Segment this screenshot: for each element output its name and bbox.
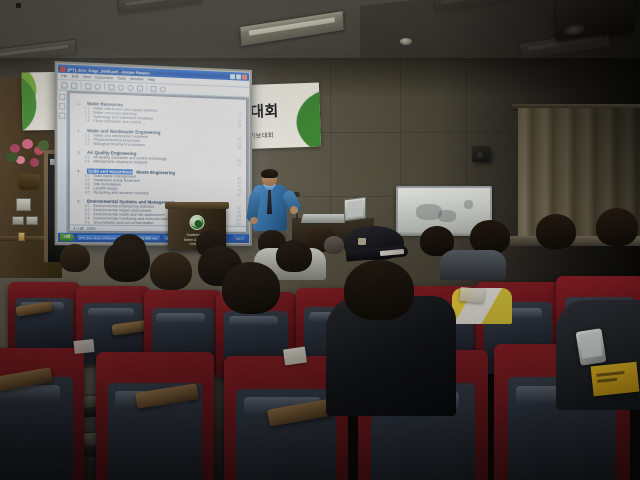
toc-item-page: 80: [238, 192, 242, 196]
menu-view[interactable]: View: [83, 75, 91, 80]
menu-tools[interactable]: Tools: [117, 76, 126, 80]
auditorium-seat-front: [96, 352, 214, 480]
audience-head-foreground: [276, 240, 312, 272]
whiteboard-marking: [464, 200, 473, 209]
flower: [30, 158, 39, 167]
system-tray-clock[interactable]: 14:27: [233, 235, 247, 242]
maximize-button[interactable]: [236, 74, 241, 79]
zoom-level: 100%: [87, 226, 96, 230]
toolbar-separator: [104, 83, 105, 90]
toc-item-text: Atmospheric dispersion analysis: [93, 159, 147, 164]
handout-paper[interactable]: [283, 347, 307, 366]
snapshot-icon[interactable]: [108, 84, 114, 90]
audience-head: [536, 214, 576, 249]
email-icon[interactable]: [85, 83, 91, 89]
seat-highlight: [229, 316, 279, 326]
navigation-pane[interactable]: [58, 90, 68, 232]
wall-switch-plate[interactable]: [12, 216, 24, 225]
menu-help[interactable]: Help: [148, 78, 156, 82]
wall-outlet[interactable]: [18, 232, 25, 241]
speaker-bracket: [16, 3, 21, 8]
find-icon[interactable]: [160, 86, 166, 92]
auditorium-seat: [8, 282, 80, 354]
select-tool-icon[interactable]: [94, 83, 100, 89]
audience-head-foreground: [150, 252, 192, 290]
capped-attendee-head: [344, 260, 414, 320]
audience-head: [596, 208, 638, 246]
menu-window[interactable]: Window: [130, 77, 143, 82]
university-crest-emblem: [190, 215, 205, 230]
print-icon[interactable]: [71, 82, 77, 89]
audience-head-foreground: [222, 262, 280, 314]
audience-head: [470, 220, 510, 254]
start-button[interactable]: 시작: [60, 234, 74, 241]
presenter-hand: [250, 217, 258, 224]
flower-arrangement: [6, 138, 52, 192]
toc-item-page: 38: [238, 145, 242, 149]
menu-file[interactable]: File: [61, 74, 67, 78]
close-button[interactable]: [242, 74, 247, 79]
wall-speaker: [472, 146, 490, 162]
bookmarks-icon[interactable]: [59, 94, 66, 101]
wall-switch-plate[interactable]: [26, 216, 38, 225]
toc-item-text: Recycling and resource recovery: [93, 190, 148, 195]
seat-highlight: [156, 313, 204, 323]
toc-item-number: 2.3: [85, 141, 90, 145]
toc-item-text: Biological treatment processes: [93, 141, 145, 147]
attachments-icon[interactable]: [59, 112, 66, 118]
toc-section: 2. Water and Wastewater Engineering 2.1 …: [77, 127, 241, 149]
smoke-detector: [400, 38, 412, 45]
toolbar-separator: [146, 85, 147, 92]
toc-item-page: 18: [238, 124, 242, 128]
toc-item-number: 3.2: [85, 159, 90, 163]
audience-head-foreground: [104, 240, 150, 282]
flower-vase: [18, 174, 40, 190]
audience-head: [324, 236, 344, 254]
pages-thumbnail-icon[interactable]: [59, 103, 66, 109]
seat-highlight: [88, 308, 134, 317]
presenter-hair: [261, 169, 278, 178]
toc-section-highlighted: 4. Solid and Hazardous Waste Engineering…: [77, 168, 241, 197]
handheld-device[interactable]: [576, 328, 607, 366]
toc-item-page: 52: [238, 163, 242, 167]
yellow-booklet[interactable]: [591, 362, 640, 397]
projector-lens: [564, 23, 584, 35]
presenter-laptop-screen: [344, 197, 366, 222]
adobe-reader-icon: [60, 66, 65, 71]
flower: [22, 139, 33, 149]
audience-head: [60, 244, 90, 272]
foliage: [38, 140, 49, 151]
toc-section: 3. Air Quality Engineering 3.1 Air quali…: [77, 150, 241, 167]
toc-section: 1. Water Resources 1.1 Water distributio…: [77, 101, 241, 128]
window-controls[interactable]: [230, 74, 247, 80]
toc-item-number: 4.5: [85, 190, 90, 194]
toolbar-separator: [81, 82, 82, 89]
open-icon[interactable]: [61, 82, 67, 89]
zoom-out-icon[interactable]: [118, 84, 124, 90]
cap-logo-icon: [358, 238, 366, 245]
whiteboard-marking: [438, 210, 456, 222]
minimize-button[interactable]: [230, 74, 235, 79]
toc-item-number: 1.4: [85, 119, 90, 123]
presenter-laptop-keyboard[interactable]: [301, 214, 348, 223]
fit-page-icon[interactable]: [137, 85, 143, 91]
rotate-icon[interactable]: [150, 85, 156, 91]
page-indicator: 4 / 128: [73, 226, 83, 230]
handout-paper[interactable]: [73, 339, 94, 354]
zoom-in-icon[interactable]: [127, 84, 133, 90]
wall-switch-plate[interactable]: [16, 198, 31, 211]
menu-edit[interactable]: Edit: [72, 74, 79, 78]
foliage: [6, 152, 18, 162]
presenter-gesturing-hand: [290, 206, 298, 214]
handout-paper[interactable]: [459, 287, 484, 303]
toc-item-text: Flood estimation and control: [93, 119, 141, 125]
menu-document[interactable]: Document: [95, 75, 112, 80]
audience-torso: [440, 250, 506, 280]
podium-top-surface: [165, 202, 229, 209]
conference-hall-photo: 2 일시 술대회 학술기보대회 [PT]_Env_Engr_2009.pdf -…: [0, 0, 640, 480]
